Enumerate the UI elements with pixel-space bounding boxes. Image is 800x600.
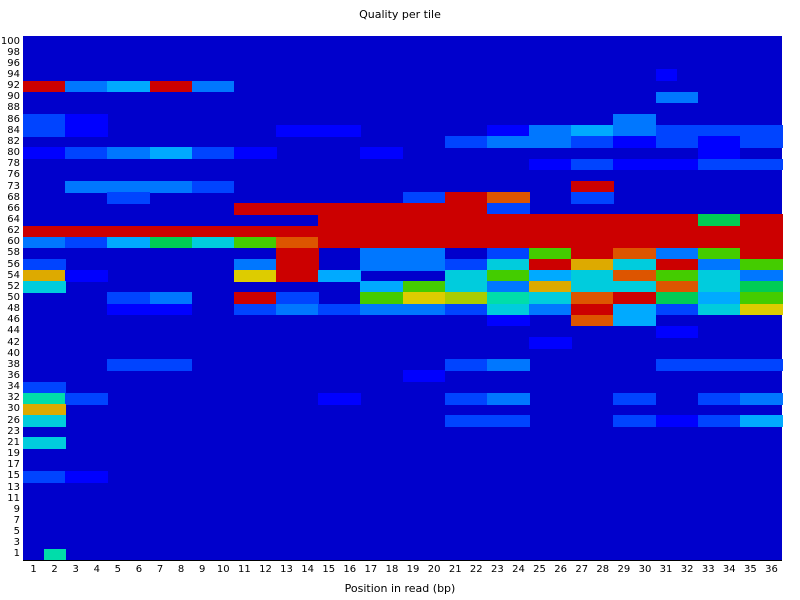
y-axis-tick-label: 48 — [0, 304, 20, 314]
heatmap-cell — [613, 214, 635, 226]
heatmap-row — [23, 81, 782, 93]
heatmap-row — [23, 404, 782, 416]
heatmap-cell — [44, 281, 66, 293]
y-axis-tick-label: 88 — [0, 103, 20, 113]
heatmap-cell — [65, 81, 87, 93]
heatmap-cell — [592, 259, 614, 271]
heatmap-cell — [634, 415, 656, 427]
heatmap-cell — [466, 259, 488, 271]
heatmap-cell — [403, 226, 425, 238]
heatmap-cell — [107, 226, 129, 238]
heatmap-cell — [192, 181, 214, 193]
y-axis-tick-label: 73 — [0, 182, 20, 192]
heatmap-cell — [529, 292, 551, 304]
heatmap-cell — [571, 270, 593, 282]
heatmap-cell — [65, 471, 87, 483]
x-axis-tick-label: 1 — [23, 563, 44, 577]
heatmap-cell — [550, 136, 572, 148]
heatmap-cell — [255, 203, 277, 215]
heatmap-cell — [360, 203, 382, 215]
heatmap-cell — [677, 237, 699, 249]
heatmap-cell — [44, 259, 66, 271]
heatmap-cell — [445, 214, 467, 226]
y-axis-tick-label: 50 — [0, 293, 20, 303]
heatmap-cell — [466, 136, 488, 148]
heatmap-cell — [508, 226, 530, 238]
heatmap-cell — [107, 237, 129, 249]
heatmap-cell — [761, 281, 783, 293]
heatmap-cell — [634, 393, 656, 405]
heatmap-cell — [592, 270, 614, 282]
heatmap-cell — [23, 114, 45, 126]
heatmap-cell — [276, 259, 298, 271]
heatmap-cell — [23, 281, 45, 293]
heatmap-row — [23, 270, 782, 282]
heatmap-cell — [571, 159, 593, 171]
heatmap-cell — [381, 203, 403, 215]
x-axis-tick-label: 35 — [740, 563, 761, 577]
heatmap-row — [23, 292, 782, 304]
heatmap-cell — [656, 248, 678, 260]
heatmap-cell — [592, 181, 614, 193]
heatmap-cell — [656, 125, 678, 137]
y-axis-tick-label: 58 — [0, 248, 20, 258]
heatmap-cell — [128, 81, 150, 93]
heatmap-cell — [445, 136, 467, 148]
x-axis-tick-label: 31 — [656, 563, 677, 577]
heatmap-cell — [44, 471, 66, 483]
heatmap-cell — [424, 203, 446, 215]
heatmap-cell — [550, 292, 572, 304]
heatmap-cell — [550, 159, 572, 171]
y-axis-tick-label: 52 — [0, 282, 20, 292]
heatmap-cell — [677, 292, 699, 304]
heatmap-cell — [23, 237, 45, 249]
heatmap-cell — [613, 226, 635, 238]
heatmap-cell — [23, 81, 45, 93]
heatmap-row — [23, 281, 782, 293]
heatmap-cell — [613, 292, 635, 304]
x-axis-tick-label: 23 — [487, 563, 508, 577]
heatmap-cell — [571, 259, 593, 271]
heatmap-cell — [466, 192, 488, 204]
heatmap-cell — [698, 292, 720, 304]
heatmap-cell — [719, 237, 741, 249]
heatmap-row — [23, 382, 782, 394]
y-axis-tick-label: 94 — [0, 70, 20, 80]
heatmap-cell — [318, 237, 340, 249]
heatmap-cell — [613, 393, 635, 405]
heatmap-cell — [128, 147, 150, 159]
heatmap-cell — [424, 237, 446, 249]
y-axis-tick-label: 98 — [0, 48, 20, 58]
heatmap-cell — [23, 404, 45, 416]
heatmap-cell — [550, 337, 572, 349]
heatmap-cell — [381, 304, 403, 316]
heatmap-cell — [698, 248, 720, 260]
heatmap-cell — [150, 147, 172, 159]
heatmap-cell — [171, 181, 193, 193]
x-axis-tick-label: 19 — [403, 563, 424, 577]
heatmap-cell — [656, 304, 678, 316]
heatmap-cell — [571, 136, 593, 148]
heatmap-cell — [740, 281, 762, 293]
heatmap-cell — [213, 81, 235, 93]
heatmap-row — [23, 125, 782, 137]
heatmap-cell — [381, 237, 403, 249]
heatmap-cell — [107, 304, 129, 316]
heatmap-cell — [634, 114, 656, 126]
heatmap-cell — [318, 270, 340, 282]
heatmap-cell — [403, 304, 425, 316]
heatmap-cell — [276, 292, 298, 304]
heatmap-cell — [740, 304, 762, 316]
x-axis-tick-label: 11 — [234, 563, 255, 577]
heatmap-cell — [234, 292, 256, 304]
heatmap-cell — [297, 125, 319, 137]
x-axis-line — [23, 560, 782, 561]
heatmap-cell — [23, 415, 45, 427]
x-axis-tick-label: 32 — [677, 563, 698, 577]
heatmap-cell — [339, 226, 361, 238]
heatmap-row — [23, 203, 782, 215]
x-axis-tick-label: 22 — [466, 563, 487, 577]
heatmap-cell — [466, 203, 488, 215]
y-axis-tick-label: 30 — [0, 404, 20, 414]
heatmap-cell — [487, 315, 509, 327]
heatmap-cell — [107, 192, 129, 204]
heatmap-cell — [613, 114, 635, 126]
heatmap-cell — [424, 281, 446, 293]
heatmap-cell — [424, 214, 446, 226]
heatmap-cell — [360, 304, 382, 316]
x-axis-tick-label: 16 — [339, 563, 360, 577]
heatmap-cell — [318, 393, 340, 405]
x-axis-tick-label: 26 — [550, 563, 571, 577]
heatmap-cell — [403, 214, 425, 226]
heatmap-cell — [656, 326, 678, 338]
y-axis-tick-label: 21 — [0, 438, 20, 448]
heatmap-cell — [487, 203, 509, 215]
y-axis-tick-label: 62 — [0, 226, 20, 236]
y-axis-tick-label: 76 — [0, 170, 20, 180]
heatmap-row — [23, 449, 782, 461]
heatmap-cell — [297, 259, 319, 271]
heatmap-cell — [86, 226, 108, 238]
y-axis-tick-label: 13 — [0, 483, 20, 493]
heatmap-cell — [276, 248, 298, 260]
heatmap-cell — [381, 226, 403, 238]
heatmap-cell — [487, 292, 509, 304]
heatmap-cell — [466, 415, 488, 427]
y-axis-tick-label: 68 — [0, 193, 20, 203]
x-axis-tick-label: 17 — [360, 563, 381, 577]
x-axis-tick-label: 29 — [613, 563, 634, 577]
chart-title: Quality per tile — [0, 8, 800, 22]
heatmap-cell — [571, 226, 593, 238]
heatmap-cell — [445, 415, 467, 427]
heatmap-cell — [656, 359, 678, 371]
heatmap-cell — [592, 315, 614, 327]
heatmap-cell — [381, 259, 403, 271]
heatmap-cell — [487, 259, 509, 271]
heatmap-cell — [65, 270, 87, 282]
heatmap-cell — [23, 270, 45, 282]
heatmap-cell — [107, 359, 129, 371]
heatmap-cell — [677, 270, 699, 282]
heatmap-cell — [677, 281, 699, 293]
y-axis-tick-label: 100 — [0, 37, 20, 47]
heatmap-cell — [719, 159, 741, 171]
heatmap-cell — [634, 259, 656, 271]
heatmap-cell — [761, 270, 783, 282]
heatmap-row — [23, 549, 782, 561]
heatmap-cell — [740, 415, 762, 427]
heatmap-cell — [255, 270, 277, 282]
heatmap-cell — [424, 259, 446, 271]
heatmap-row — [23, 504, 782, 516]
heatmap-row — [23, 326, 782, 338]
heatmap-cell — [192, 237, 214, 249]
x-axis-tick-label: 13 — [276, 563, 297, 577]
heatmap-cell — [276, 203, 298, 215]
heatmap-cell — [613, 159, 635, 171]
heatmap-cell — [508, 315, 530, 327]
y-axis-tick-label: 26 — [0, 416, 20, 426]
x-axis-tick-label: 8 — [171, 563, 192, 577]
heatmap-cell — [23, 259, 45, 271]
heatmap-cell — [255, 292, 277, 304]
heatmap-row — [23, 437, 782, 449]
heatmap-cell — [403, 248, 425, 260]
heatmap-row — [23, 92, 782, 104]
heatmap-cell — [529, 281, 551, 293]
heatmap-cell — [677, 226, 699, 238]
y-axis-tick-label: 15 — [0, 471, 20, 481]
heatmap-row — [23, 103, 782, 115]
heatmap-cell — [740, 292, 762, 304]
heatmap-cell — [466, 359, 488, 371]
heatmap-cell — [613, 270, 635, 282]
heatmap-cell — [466, 281, 488, 293]
heatmap-cell — [297, 226, 319, 238]
heatmap-cell — [23, 125, 45, 137]
x-axis-tick-label: 34 — [719, 563, 740, 577]
heatmap-row — [23, 170, 782, 182]
heatmap-row — [23, 482, 782, 494]
heatmap-cell — [613, 125, 635, 137]
y-axis-tick-label: 66 — [0, 204, 20, 214]
heatmap-row — [23, 237, 782, 249]
heatmap-cell — [44, 415, 66, 427]
heatmap-cell — [634, 281, 656, 293]
y-axis-tick-label: 42 — [0, 338, 20, 348]
heatmap-cell — [466, 214, 488, 226]
heatmap-cell — [339, 393, 361, 405]
heatmap-cell — [487, 415, 509, 427]
heatmap-plot-area — [23, 36, 782, 560]
heatmap-cell — [171, 359, 193, 371]
heatmap-cell — [128, 359, 150, 371]
heatmap-cell — [740, 226, 762, 238]
heatmap-cell — [466, 292, 488, 304]
heatmap-cell — [403, 292, 425, 304]
heatmap-cell — [339, 237, 361, 249]
heatmap-cell — [508, 136, 530, 148]
heatmap-cell — [656, 69, 678, 81]
heatmap-row — [23, 248, 782, 260]
heatmap-cell — [65, 147, 87, 159]
heatmap-cell — [360, 214, 382, 226]
heatmap-cell — [360, 248, 382, 260]
heatmap-cell — [656, 281, 678, 293]
heatmap-cell — [65, 181, 87, 193]
heatmap-cell — [529, 237, 551, 249]
y-axis-tick-label: 96 — [0, 59, 20, 69]
heatmap-cell — [550, 304, 572, 316]
y-axis-tick-label: 11 — [0, 494, 20, 504]
heatmap-cell — [23, 437, 45, 449]
heatmap-cell — [719, 147, 741, 159]
heatmap-cell — [255, 147, 277, 159]
heatmap-cell — [529, 248, 551, 260]
heatmap-cell — [656, 92, 678, 104]
y-axis-tick-label: 7 — [0, 516, 20, 526]
heatmap-cell — [466, 226, 488, 238]
heatmap-cell — [634, 304, 656, 316]
heatmap-cell — [719, 292, 741, 304]
heatmap-cell — [529, 136, 551, 148]
heatmap-cell — [613, 415, 635, 427]
x-axis-tick-label: 30 — [634, 563, 655, 577]
y-axis-tick-label: 9 — [0, 505, 20, 515]
heatmap-cell — [761, 159, 783, 171]
heatmap-cell — [634, 292, 656, 304]
heatmap-cell — [86, 181, 108, 193]
heatmap-cell — [487, 359, 509, 371]
heatmap-cell — [44, 237, 66, 249]
x-axis-tick-label: 2 — [44, 563, 65, 577]
heatmap-cell — [255, 304, 277, 316]
x-axis-tick-label: 33 — [698, 563, 719, 577]
heatmap-cell — [634, 315, 656, 327]
heatmap-cell — [550, 248, 572, 260]
heatmap-cell — [656, 259, 678, 271]
heatmap-cell — [613, 259, 635, 271]
heatmap-cell — [255, 226, 277, 238]
heatmap-cell — [508, 415, 530, 427]
heatmap-cell — [487, 214, 509, 226]
heatmap-cell — [634, 214, 656, 226]
heatmap-cell — [719, 415, 741, 427]
y-axis-tick-label: 5 — [0, 527, 20, 537]
heatmap-cell — [656, 270, 678, 282]
heatmap-cell — [698, 226, 720, 238]
heatmap-row — [23, 259, 782, 271]
heatmap-cell — [677, 92, 699, 104]
heatmap-cell — [698, 259, 720, 271]
heatmap-cell — [698, 147, 720, 159]
heatmap-cell — [466, 237, 488, 249]
heatmap-cell — [634, 270, 656, 282]
heatmap-cell — [150, 292, 172, 304]
heatmap-cell — [656, 226, 678, 238]
heatmap-cell — [487, 192, 509, 204]
heatmap-cell — [592, 125, 614, 137]
x-axis-tick-label: 36 — [761, 563, 782, 577]
heatmap-cell — [44, 114, 66, 126]
heatmap-cell — [86, 237, 108, 249]
heatmap-cell — [318, 214, 340, 226]
heatmap-cell — [487, 393, 509, 405]
y-axis-tick-label: 46 — [0, 315, 20, 325]
y-axis-tick-label: 34 — [0, 382, 20, 392]
heatmap-row — [23, 527, 782, 539]
heatmap-row — [23, 47, 782, 59]
heatmap-cell — [192, 81, 214, 93]
heatmap-cell — [128, 181, 150, 193]
heatmap-cell — [677, 359, 699, 371]
heatmap-cell — [44, 382, 66, 394]
heatmap-cell — [128, 226, 150, 238]
heatmap-cell — [403, 237, 425, 249]
heatmap-cell — [508, 125, 530, 137]
heatmap-cell — [487, 304, 509, 316]
heatmap-cell — [255, 259, 277, 271]
heatmap-cell — [613, 136, 635, 148]
heatmap-cell — [592, 159, 614, 171]
y-axis-tick-label: 23 — [0, 427, 20, 437]
heatmap-cell — [719, 214, 741, 226]
x-axis-tick-label: 28 — [592, 563, 613, 577]
heatmap-cell — [613, 248, 635, 260]
heatmap-cell — [234, 259, 256, 271]
y-axis-tick-label: 78 — [0, 159, 20, 169]
heatmap-cell — [571, 125, 593, 137]
heatmap-cell — [234, 203, 256, 215]
heatmap-cell — [213, 226, 235, 238]
heatmap-cell — [487, 237, 509, 249]
heatmap-cell — [445, 259, 467, 271]
x-axis-tick-label: 12 — [255, 563, 276, 577]
heatmap-cell — [128, 304, 150, 316]
heatmap-cell — [318, 203, 340, 215]
heatmap-cell — [698, 214, 720, 226]
y-axis-tick-label: 3 — [0, 538, 20, 548]
heatmap-cell — [171, 292, 193, 304]
heatmap-cell — [761, 292, 783, 304]
heatmap-cell — [107, 292, 129, 304]
y-axis-tick-label: 1 — [0, 549, 20, 559]
y-axis-tick-label: 44 — [0, 326, 20, 336]
heatmap-cell — [128, 292, 150, 304]
heatmap-cell — [613, 315, 635, 327]
heatmap-cell — [550, 214, 572, 226]
heatmap-cell — [719, 136, 741, 148]
heatmap-cell — [276, 270, 298, 282]
heatmap-cell — [571, 292, 593, 304]
heatmap-cell — [86, 81, 108, 93]
heatmap-cell — [761, 125, 783, 137]
heatmap-row — [23, 337, 782, 349]
heatmap-cell — [255, 237, 277, 249]
heatmap-cell — [297, 237, 319, 249]
heatmap-cell — [424, 192, 446, 204]
heatmap-cell — [424, 292, 446, 304]
heatmap-cell — [719, 359, 741, 371]
heatmap-row — [23, 114, 782, 126]
heatmap-cell — [592, 304, 614, 316]
